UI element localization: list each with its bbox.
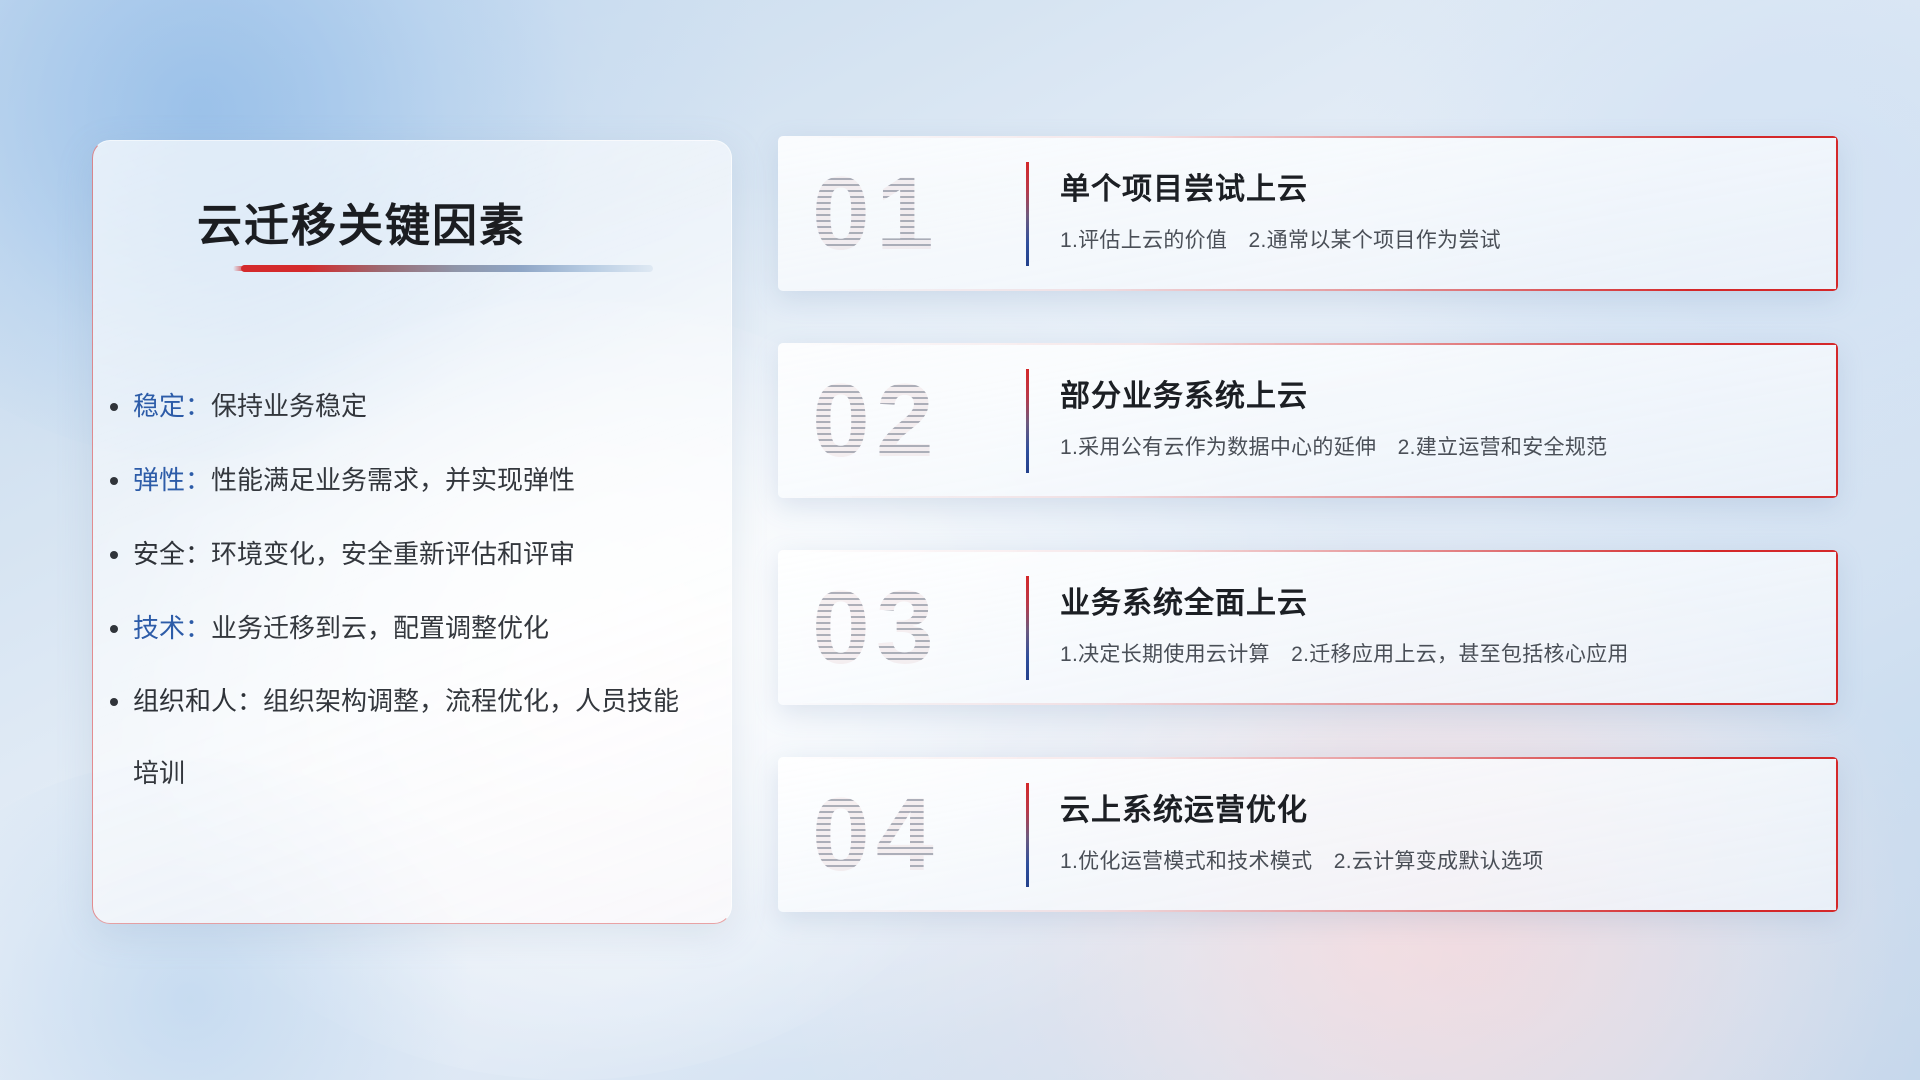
stage-card[interactable]: 0404云上系统运营优化1.优化运营模式和技术模式 2.云计算变成默认选项 xyxy=(778,757,1838,912)
card-description: 1.优化运营模式和技术模式 2.云计算变成默认选项 xyxy=(1060,845,1544,875)
stage-card[interactable]: 0101单个项目尝试上云1.评估上云的价值 2.通常以某个项目作为尝试 xyxy=(778,136,1838,291)
stage-number: 03 xyxy=(812,568,1002,688)
card-description: 1.决定长期使用云计算 2.迁移应用上云，甚至包括核心应用 xyxy=(1060,638,1629,668)
card-divider-bar xyxy=(1026,162,1029,266)
card-title: 部分业务系统上云 xyxy=(1060,371,1308,415)
card-right-accent-line xyxy=(1836,136,1838,291)
stage-number: 02 xyxy=(812,361,1002,481)
stage-card[interactable]: 0303业务系统全面上云1.决定长期使用云计算 2.迁移应用上云，甚至包括核心应… xyxy=(778,550,1838,705)
card-title: 单个项目尝试上云 xyxy=(1060,164,1308,208)
card-top-accent-line xyxy=(778,550,1838,552)
stage-number: 01 xyxy=(812,154,1002,274)
card-top-accent-line xyxy=(778,136,1838,138)
card-description: 1.采用公有云作为数据中心的延伸 2.建立运营和安全规范 xyxy=(1060,431,1607,461)
card-bottom-accent-line xyxy=(778,910,1838,912)
factor-item: 弹性：性能满足业务需求，并实现弹性 xyxy=(133,443,693,517)
factor-label: 稳定： xyxy=(133,391,211,421)
factor-list: 稳定：保持业务稳定弹性：性能满足业务需求，并实现弹性安全：环境变化，安全重新评估… xyxy=(133,369,693,809)
slide-canvas: 云迁移关键因素 稳定：保持业务稳定弹性：性能满足业务需求，并实现弹性安全：环境变… xyxy=(0,0,1920,1080)
card-right-accent-line xyxy=(1836,550,1838,705)
key-factors-panel: 云迁移关键因素 稳定：保持业务稳定弹性：性能满足业务需求，并实现弹性安全：环境变… xyxy=(92,140,732,924)
card-description: 1.评估上云的价值 2.通常以某个项目作为尝试 xyxy=(1060,224,1501,254)
factor-text: 环境变化，安全重新评估和评审 xyxy=(211,539,575,569)
factor-label: 弹性： xyxy=(133,465,211,495)
migration-stage-card-list: 0101单个项目尝试上云1.评估上云的价值 2.通常以某个项目作为尝试0202部… xyxy=(778,136,1838,964)
card-bottom-accent-line xyxy=(778,496,1838,498)
factor-label: 技术： xyxy=(133,613,211,643)
stage-card[interactable]: 0202部分业务系统上云1.采用公有云作为数据中心的延伸 2.建立运营和安全规范 xyxy=(778,343,1838,498)
factor-item: 稳定：保持业务稳定 xyxy=(133,369,693,443)
title-underline-bar xyxy=(241,265,653,272)
factor-label: 安全： xyxy=(133,539,211,569)
factor-text: 性能满足业务需求，并实现弹性 xyxy=(211,465,575,495)
card-divider-bar xyxy=(1026,369,1029,473)
card-divider-bar xyxy=(1026,783,1029,887)
card-right-accent-line xyxy=(1836,343,1838,498)
factor-item: 组织和人：组织架构调整，流程优化，人员技能培训 xyxy=(133,665,693,809)
factor-item: 技术：业务迁移到云，配置调整优化 xyxy=(133,591,693,665)
factor-label: 组织和人： xyxy=(133,686,263,716)
factor-text: 业务迁移到云，配置调整优化 xyxy=(211,613,549,643)
card-top-accent-line xyxy=(778,343,1838,345)
card-top-accent-line xyxy=(778,757,1838,759)
card-bottom-accent-line xyxy=(778,703,1838,705)
card-bottom-accent-line xyxy=(778,289,1838,291)
card-right-accent-line xyxy=(1836,757,1838,912)
card-title: 业务系统全面上云 xyxy=(1060,578,1308,622)
card-title: 云上系统运营优化 xyxy=(1060,785,1308,829)
card-divider-bar xyxy=(1026,576,1029,680)
factor-text: 保持业务稳定 xyxy=(211,391,367,421)
panel-title: 云迁移关键因素 xyxy=(197,189,526,254)
factor-item: 安全：环境变化，安全重新评估和评审 xyxy=(133,517,693,591)
stage-number: 04 xyxy=(812,775,1002,895)
